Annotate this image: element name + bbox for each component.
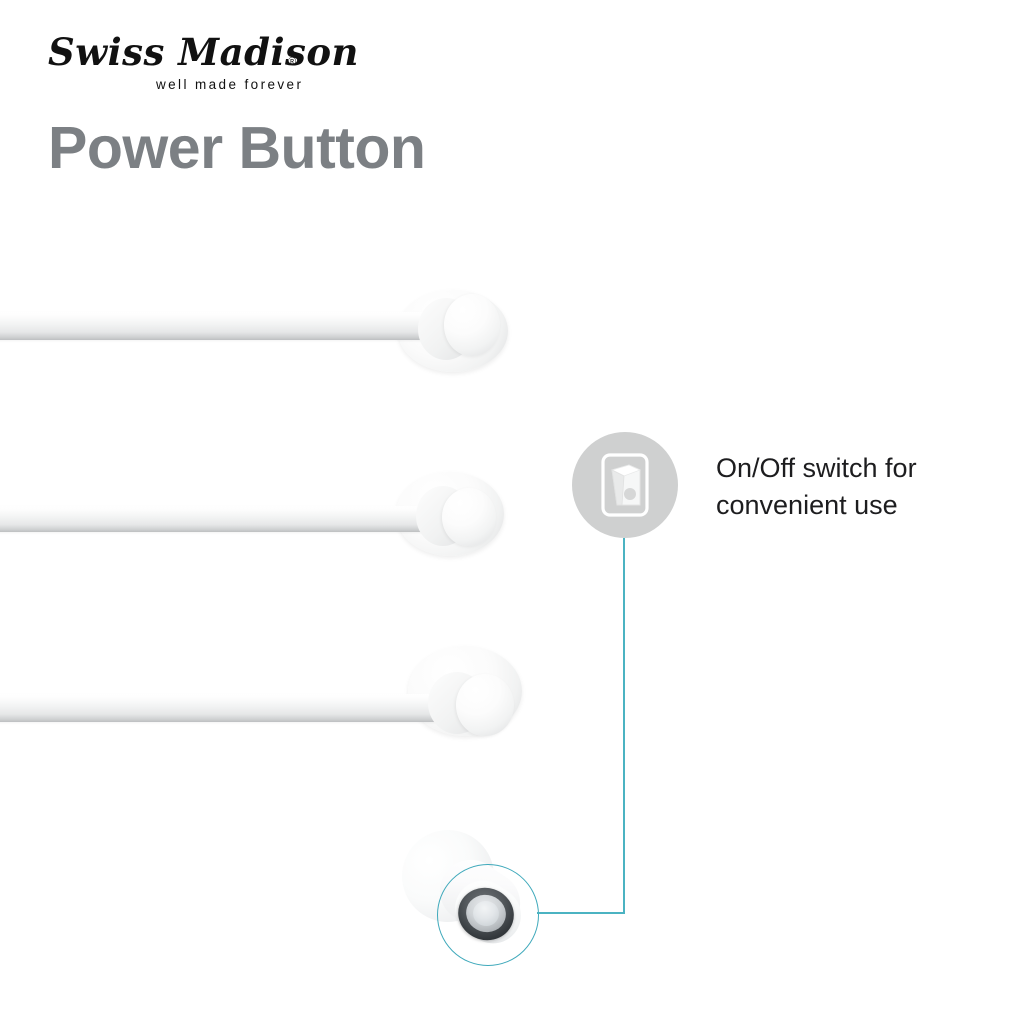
towel-bar-1 — [0, 280, 520, 380]
callout-text-line-1: On/Off switch for — [716, 450, 1006, 487]
brand-logo: Swiss Madison ® well made forever — [48, 30, 308, 102]
callout-text: On/Off switch for convenient use — [716, 450, 1006, 524]
product-feature-page: Swiss Madison ® well made forever Power … — [0, 0, 1024, 1024]
bar-end-knob — [444, 294, 500, 356]
callout-connector-horizontal — [537, 912, 625, 914]
towel-bar-2 — [0, 466, 520, 566]
bar-end-knob — [456, 674, 514, 736]
light-switch-icon-badge — [572, 432, 678, 538]
registered-trademark-icon: ® — [288, 56, 296, 68]
bar-rod — [0, 312, 450, 340]
light-switch-icon — [572, 432, 678, 538]
callout-connector-vertical — [623, 538, 625, 914]
towel-bar-3 — [0, 640, 545, 750]
brand-tagline: well made forever — [156, 77, 303, 92]
page-title: Power Button — [48, 114, 425, 182]
brand-name: Swiss Madison — [48, 30, 359, 74]
highlight-circle — [437, 864, 539, 966]
bar-end-knob — [442, 488, 496, 546]
callout-text-line-2: convenient use — [716, 487, 1006, 524]
bar-rod — [0, 506, 448, 532]
bar-rod — [0, 694, 464, 722]
